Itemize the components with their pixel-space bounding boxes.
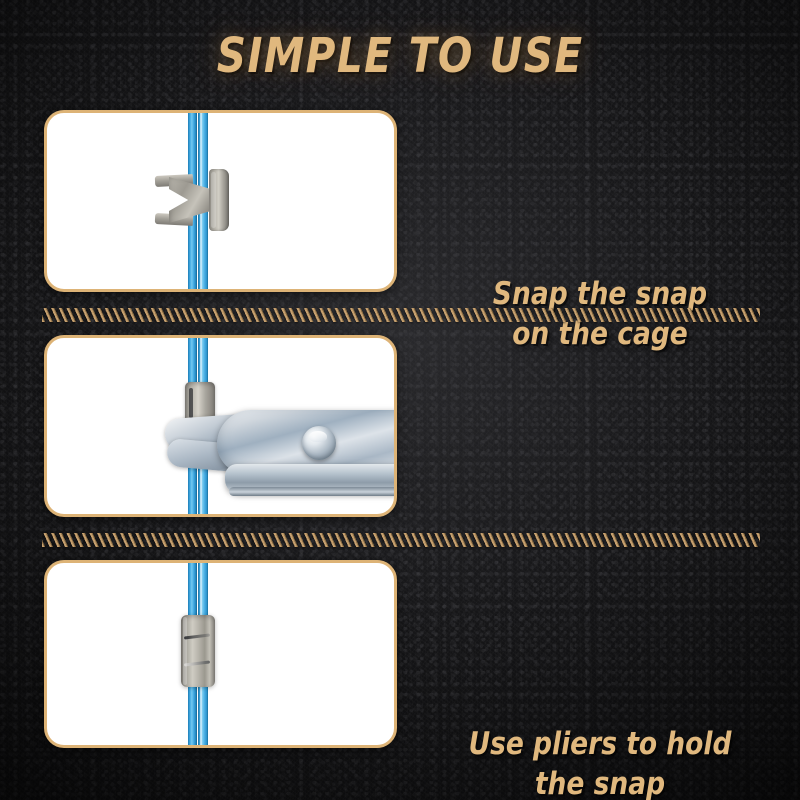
hatched-divider-2 [42, 533, 760, 547]
hatched-divider-1 [42, 308, 760, 322]
plier-handle-edge [229, 487, 394, 496]
step-2-image-panel [44, 335, 397, 517]
clip-back-plate [209, 169, 229, 231]
page-title: SIMPLE TO USE [217, 28, 584, 84]
metal-snap-clip-closed [181, 615, 215, 687]
step-row-3: The installation is complete [0, 560, 800, 748]
step-3-photo [47, 563, 394, 745]
step-2-photo [47, 338, 394, 514]
pliers-tool [47, 338, 394, 514]
step-row-1: Snap the snap on the cage [0, 110, 800, 298]
clip-edge-highlight [183, 617, 187, 685]
page-title-container: SIMPLE TO USE [0, 28, 800, 84]
step-3-image-panel [44, 560, 397, 748]
metal-snap-clip-open [155, 169, 231, 231]
step-1-image-panel [44, 110, 397, 292]
plier-rivet-screw [302, 426, 336, 460]
step-1-photo [47, 113, 394, 289]
step-row-2: Use pliers to hold the snap [0, 335, 800, 523]
infographic-poster: SIMPLE TO USE Snap the snap on the cage [0, 0, 800, 800]
clip-gap [189, 388, 193, 418]
step-2-caption-line-2: the snap [429, 765, 771, 800]
